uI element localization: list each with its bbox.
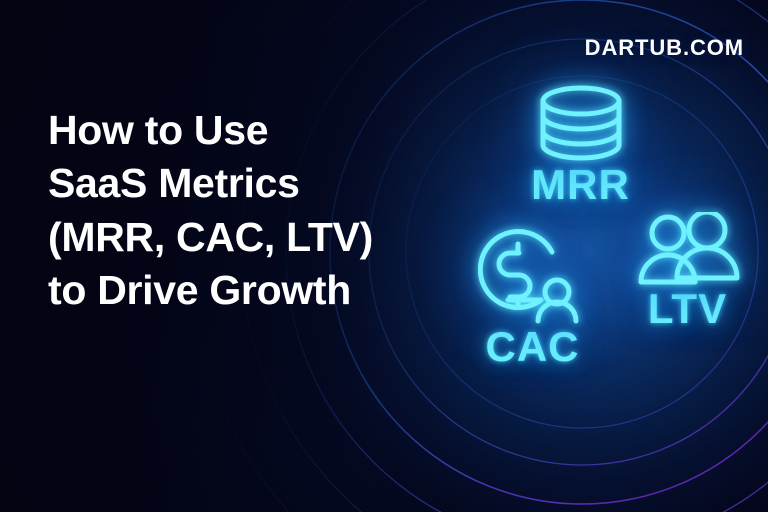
page-title: How to Use SaaS Metrics (MRR, CAC, LTV) …: [48, 104, 448, 317]
users-group-icon: [633, 212, 743, 286]
title-line-3: (MRR, CAC, LTV): [48, 211, 448, 264]
title-line-1: How to Use: [48, 104, 448, 157]
metric-mrr-label: MRR: [498, 164, 663, 206]
metric-cac-label: CAC: [455, 326, 610, 368]
title-line-4: to Drive Growth: [48, 264, 448, 317]
metric-ltv-label: LTV: [615, 288, 760, 330]
database-icon: [529, 84, 633, 162]
metric-ltv: LTV: [615, 212, 760, 330]
metric-cac: CAC: [455, 224, 610, 368]
site-watermark: DARTUB.COM: [585, 35, 744, 61]
dollar-circle-user-icon: [478, 224, 588, 324]
title-line-2: SaaS Metrics: [48, 157, 448, 210]
metric-mrr: MRR: [498, 84, 663, 206]
banner-graphic: DARTUB.COM How to Use SaaS Metrics (MRR,…: [0, 0, 768, 512]
